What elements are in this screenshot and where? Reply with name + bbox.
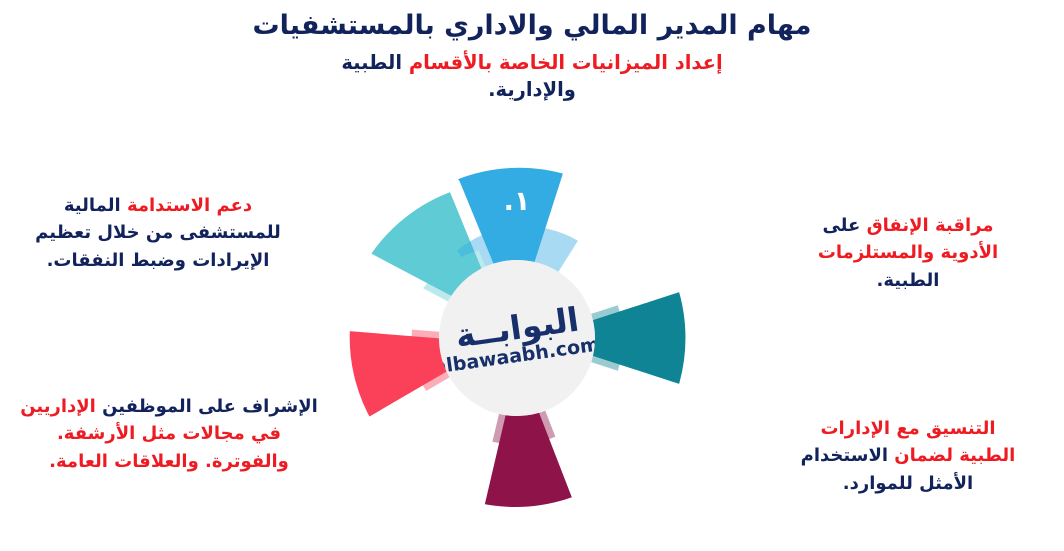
caption-right-bottom-red-1: التنسيق مع الإدارات	[820, 418, 995, 439]
caption-left-bottom-navy: الإشراف على الموظفين	[96, 396, 318, 417]
segment-1-number: ١.	[504, 186, 531, 217]
center-logo: البوابــة albawaabh.com	[439, 260, 595, 416]
caption-left-bottom-red-3: والفوترة. والعلاقات العامة.	[49, 451, 289, 472]
caption-left-top: دعم الاستدامة المالية للمستشفى من خلال ت…	[8, 192, 308, 274]
segment-4-number: ٤.	[424, 432, 451, 463]
caption-left-bottom: الإشراف على الموظفين الإداريين في مجالات…	[2, 393, 336, 475]
header: مهام المدير المالي والاداري بالمستشفيات …	[0, 0, 1064, 104]
caption-left-top-navy-1: المالية	[64, 195, 121, 216]
segment-3-number: ٣.	[586, 432, 613, 463]
caption-right-top: مراقبة الإنفاق على الأدوية والمستلزمات ا…	[760, 212, 1056, 294]
caption-right-bottom-red-2: الطبية لضمان	[888, 445, 1015, 466]
caption-right-top-navy-2: الطبية.	[877, 270, 940, 291]
caption-top-red: إعداد الميزانيات الخاصة بالأقسام	[409, 51, 723, 74]
caption-right-top-red-1: مراقبة الإنفاق	[867, 215, 994, 236]
caption-right-top-red-2: الأدوية والمستلزمات	[818, 242, 998, 263]
caption-top: إعداد الميزانيات الخاصة بالأقسام الطبية …	[317, 43, 747, 104]
caption-left-top-navy-2: للمستشفى من خلال تعظيم	[35, 222, 281, 243]
caption-right-bottom: التنسيق مع الإدارات الطبية لضمان الاستخد…	[760, 415, 1056, 497]
page-title: مهام المدير المالي والاداري بالمستشفيات	[0, 0, 1064, 43]
caption-right-bottom-navy-2: الأمثل للموارد.	[843, 473, 973, 494]
caption-left-top-red: دعم الاستدامة	[121, 195, 252, 216]
segment-2-number: ٢.	[629, 279, 656, 310]
caption-left-bottom-red-1: الإداريين	[20, 396, 96, 417]
caption-right-top-navy-1: على	[822, 215, 866, 236]
caption-left-bottom-red-2: في مجالات مثل الأرشفة.	[57, 423, 281, 444]
caption-right-bottom-navy-1: الاستخدام	[801, 445, 888, 466]
caption-left-top-navy-3: الإيرادات وضبط النفقات.	[47, 250, 270, 271]
segment-5-number: ٥.	[379, 279, 406, 310]
donut-chart: ١. ٢. ٣. ٤. ٥. البوابــة albawaabh.com	[307, 128, 727, 548]
